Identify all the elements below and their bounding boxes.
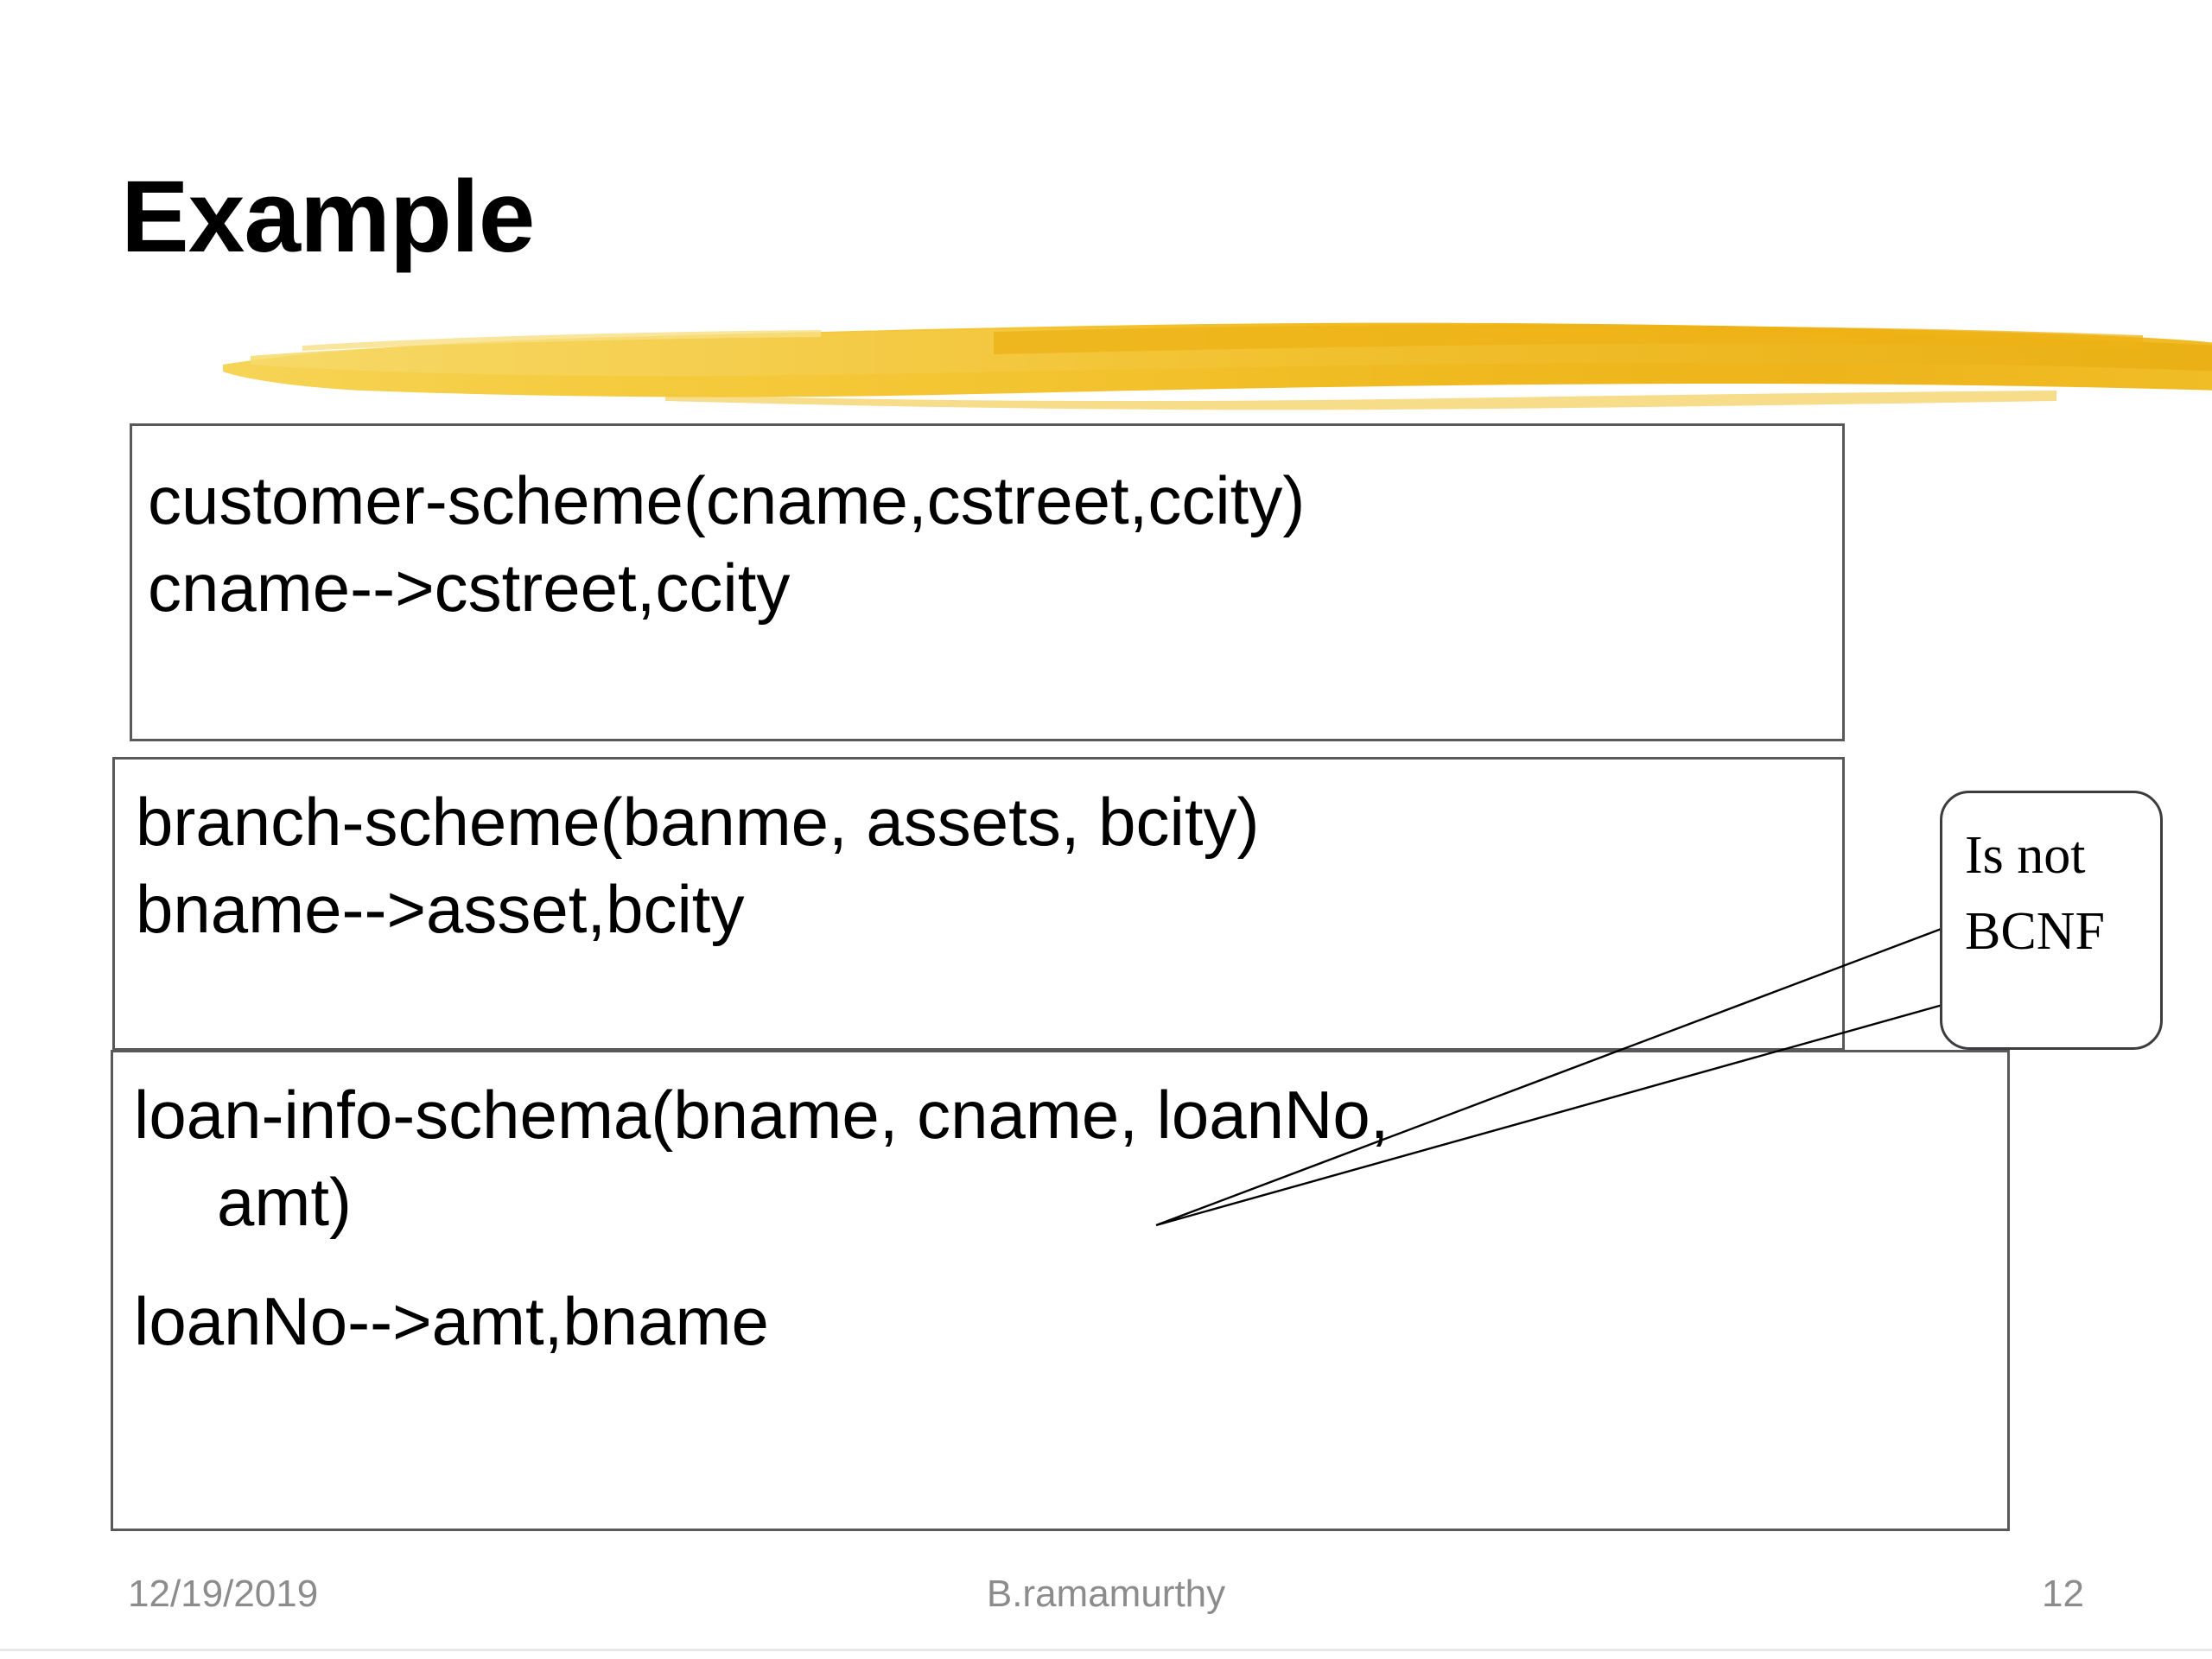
schema-line: bname-->asset,bcity	[136, 866, 1842, 953]
schema-line: loan-info-schema(bname, cname, loanNo,	[134, 1071, 2007, 1159]
schema-box-customer: customer-scheme(cname,cstreet,ccity) cna…	[130, 423, 1845, 741]
schema-box-branch: branch-scheme(banme, assets, bcity) bnam…	[112, 757, 1845, 1051]
schema-line: customer-scheme(cname,cstreet,ccity)	[148, 457, 1842, 544]
callout-bubble: Is not BCNF	[1940, 791, 2163, 1050]
callout-label: Is not BCNF	[1965, 817, 2212, 969]
schema-line: amt)	[134, 1159, 2007, 1246]
brush-stroke-decoration	[216, 311, 2212, 415]
schema-box-loan-info: loan-info-schema(bname, cname, loanNo, a…	[111, 1050, 2010, 1531]
footer-page-number: 12	[2042, 1573, 2084, 1616]
bottom-divider	[0, 1649, 2212, 1651]
schema-line: loanNo-->amt,bname	[134, 1278, 2007, 1365]
schema-line: branch-scheme(banme, assets, bcity)	[136, 779, 1842, 866]
schema-line: cname-->cstreet,ccity	[148, 544, 1842, 632]
slide-footer: 12/19/2019 B.ramamurthy 12	[0, 1573, 2212, 1633]
slide: Example	[0, 0, 2212, 1659]
page-title: Example	[121, 164, 534, 271]
footer-author: B.ramamurthy	[0, 1573, 2212, 1616]
